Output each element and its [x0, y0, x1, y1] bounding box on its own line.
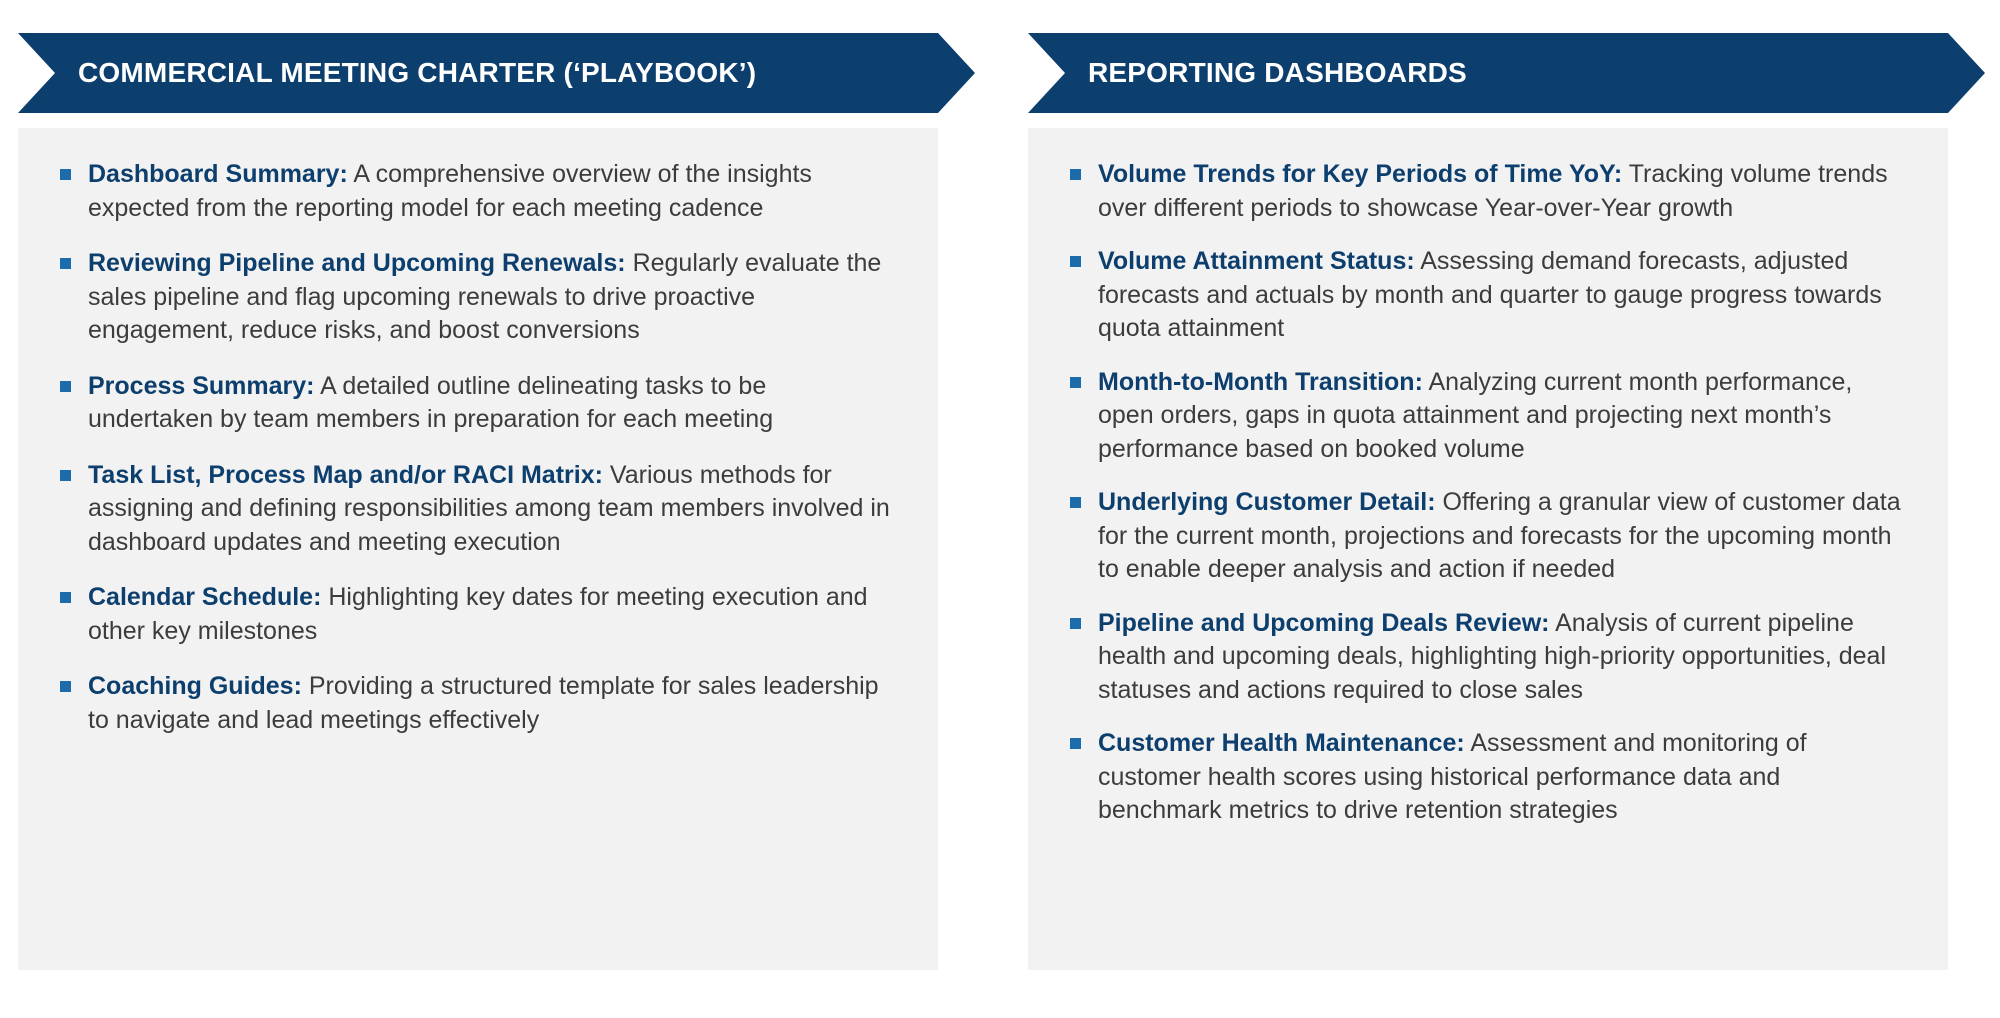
list-item: Volume Trends for Key Periods of Time Yo…	[1068, 158, 1908, 225]
panel-commercial-meeting-charter: Dashboard Summary: A comprehensive overv…	[18, 128, 938, 970]
bullet-term: Pipeline and Upcoming Deals Review:	[1098, 609, 1550, 637]
square-bullet-icon	[60, 681, 71, 692]
square-bullet-icon	[60, 169, 71, 180]
list-item: Month-to-Month Transition: Analyzing cur…	[1068, 366, 1908, 467]
banner-title-commercial-meeting-charter: COMMERCIAL MEETING CHARTER (‘PLAYBOOK’)	[18, 57, 756, 89]
square-bullet-icon	[60, 470, 71, 481]
square-bullet-icon	[1070, 618, 1081, 629]
square-bullet-icon	[1070, 169, 1081, 180]
bullet-term: Process Summary:	[88, 372, 315, 400]
list-item: Process Summary: A detailed outline deli…	[58, 370, 898, 437]
bullet-term: Calendar Schedule:	[88, 583, 321, 611]
bullet-term: Customer Health Maintenance:	[1098, 729, 1465, 757]
bullet-list-reporting-dashboards: Volume Trends for Key Periods of Time Yo…	[1068, 158, 1908, 828]
bullet-term: Volume Attainment Status:	[1098, 247, 1415, 275]
list-item: Coaching Guides: Providing a structured …	[58, 670, 898, 737]
list-item: Calendar Schedule: Highlighting key date…	[58, 581, 898, 648]
list-item: Underlying Customer Detail: Offering a g…	[1068, 486, 1908, 587]
square-bullet-icon	[60, 592, 71, 603]
bullet-term: Coaching Guides:	[88, 672, 302, 700]
bullet-term: Reviewing Pipeline and Upcoming Renewals…	[88, 249, 626, 277]
banner-reporting-dashboards: REPORTING DASHBOARDS	[1028, 33, 1985, 113]
list-item: Task List, Process Map and/or RACI Matri…	[58, 459, 898, 560]
column-commercial-meeting-charter: COMMERCIAL MEETING CHARTER (‘PLAYBOOK’) …	[18, 33, 975, 970]
list-item: Pipeline and Upcoming Deals Review: Anal…	[1068, 607, 1908, 708]
square-bullet-icon	[1070, 377, 1081, 388]
list-item: Reviewing Pipeline and Upcoming Renewals…	[58, 247, 898, 348]
square-bullet-icon	[60, 258, 71, 269]
list-item: Dashboard Summary: A comprehensive overv…	[58, 158, 898, 225]
column-reporting-dashboards: REPORTING DASHBOARDS Volume Trends for K…	[1028, 33, 1985, 970]
square-bullet-icon	[1070, 256, 1081, 267]
list-item: Customer Health Maintenance: Assessment …	[1068, 727, 1908, 828]
bullet-term: Volume Trends for Key Periods of Time Yo…	[1098, 160, 1622, 188]
bullet-term: Underlying Customer Detail:	[1098, 488, 1436, 516]
banner-title-reporting-dashboards: REPORTING DASHBOARDS	[1028, 57, 1467, 89]
bullet-term: Month-to-Month Transition:	[1098, 368, 1423, 396]
square-bullet-icon	[1070, 738, 1081, 749]
square-bullet-icon	[1070, 497, 1081, 508]
bullet-term: Task List, Process Map and/or RACI Matri…	[88, 461, 603, 489]
bullet-list-commercial-meeting-charter: Dashboard Summary: A comprehensive overv…	[58, 158, 898, 737]
panel-reporting-dashboards: Volume Trends for Key Periods of Time Yo…	[1028, 128, 1948, 970]
slide-canvas: COMMERCIAL MEETING CHARTER (‘PLAYBOOK’) …	[0, 0, 2000, 1018]
bullet-term: Dashboard Summary:	[88, 160, 348, 188]
banner-commercial-meeting-charter: COMMERCIAL MEETING CHARTER (‘PLAYBOOK’)	[18, 33, 975, 113]
square-bullet-icon	[60, 381, 71, 392]
list-item: Volume Attainment Status: Assessing dema…	[1068, 245, 1908, 346]
